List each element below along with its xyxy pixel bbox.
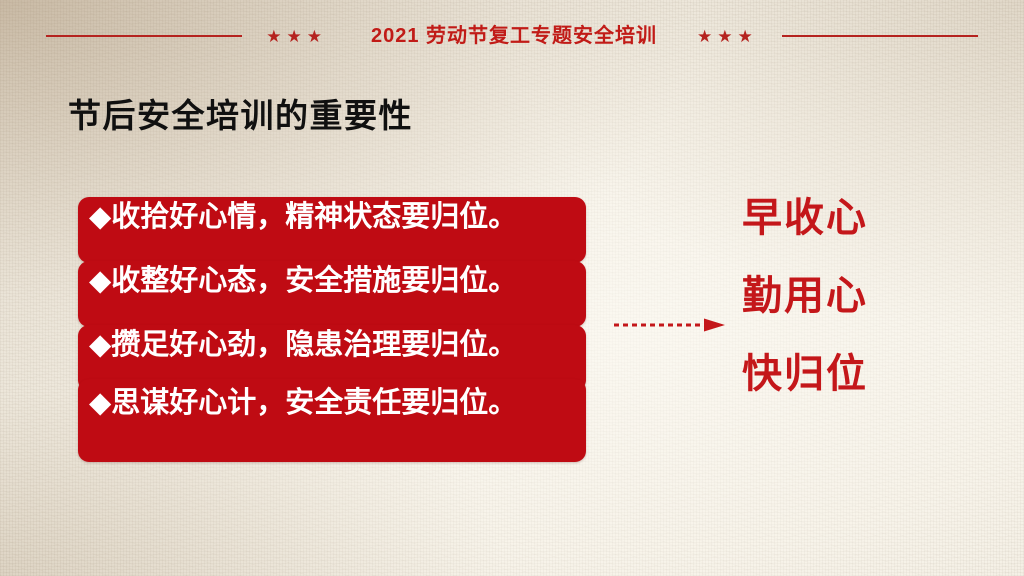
header-title: 2021 劳动节复工专题安全培训 <box>371 26 657 46</box>
banner-item-4: ◆思谋好心计，安全责任要归位。 <box>78 379 586 462</box>
slide-header: ★★★ 2021 劳动节复工专题安全培训 ★★★ <box>0 0 1024 72</box>
slogan-item-2: 勤用心 <box>742 276 942 316</box>
banner-item-2: ◆收整好心态，安全措施要归位。 <box>78 261 586 327</box>
dashed-arrow-icon <box>614 318 726 332</box>
slogan-list: 早收心 勤用心 快归位 <box>742 198 942 394</box>
slogan-item-1: 早收心 <box>742 198 942 238</box>
banner-item-3-label: ◆攒足好心劲，隐患治理要归位。 <box>89 327 581 364</box>
banner-item-4-label: ◆思谋好心计，安全责任要归位。 <box>89 385 581 422</box>
page-title: 节后安全培训的重要性 <box>68 97 413 135</box>
banner-item-1: ◆收拾好心情，精神状态要归位。 <box>78 197 586 263</box>
slide-canvas: ★★★ 2021 劳动节复工专题安全培训 ★★★ 节后安全培训的重要性 ◆收拾好… <box>0 0 1024 576</box>
star-icon-group-left: ★★★ <box>266 28 327 45</box>
header-rule-right <box>782 35 978 37</box>
star-icon-group-right: ★★★ <box>697 28 758 45</box>
banner-item-1-label: ◆收拾好心情，精神状态要归位。 <box>89 199 581 236</box>
header-rule-left <box>46 35 242 37</box>
slogan-item-3: 快归位 <box>742 354 942 394</box>
banner-list: ◆收拾好心情，精神状态要归位。 ◆收整好心态，安全措施要归位。 ◆攒足好心劲，隐… <box>78 197 586 462</box>
banner-item-2-label: ◆收整好心态，安全措施要归位。 <box>89 263 581 300</box>
